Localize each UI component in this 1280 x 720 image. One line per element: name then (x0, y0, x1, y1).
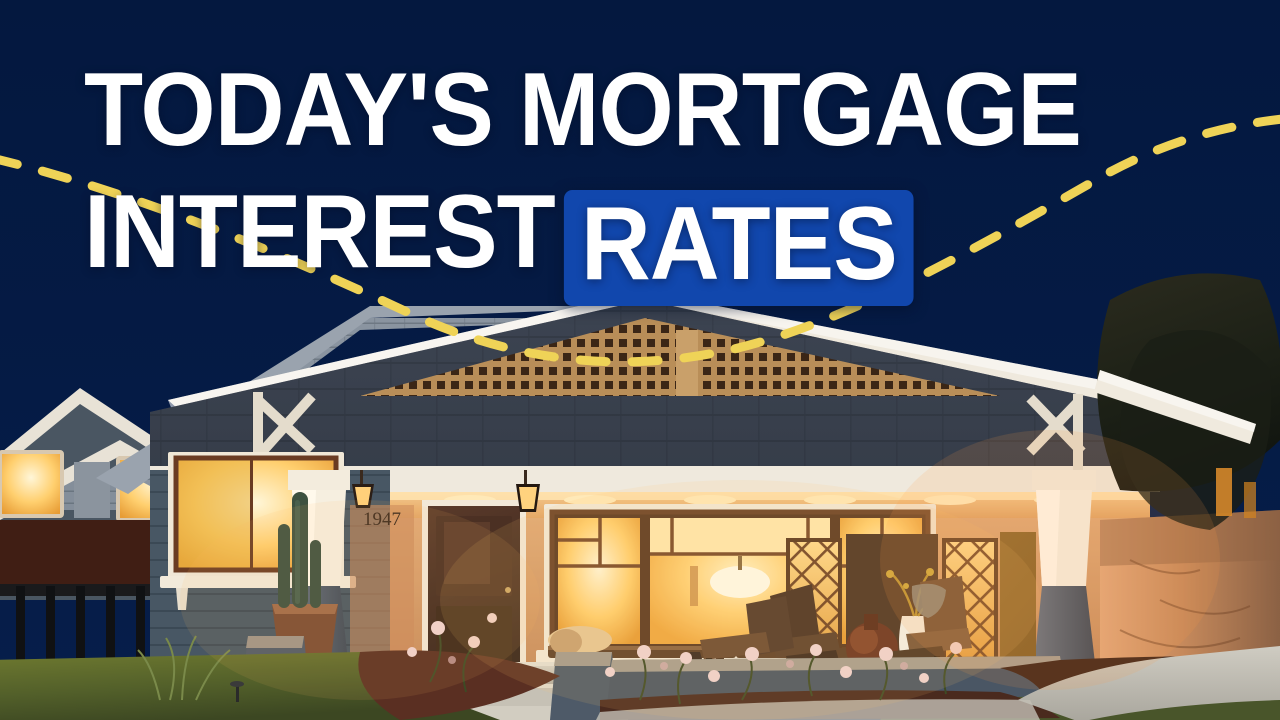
dashed-path (0, 118, 1280, 362)
hero-banner: 1947 (0, 0, 1280, 720)
yellow-dashed-trend-line (0, 0, 1280, 720)
